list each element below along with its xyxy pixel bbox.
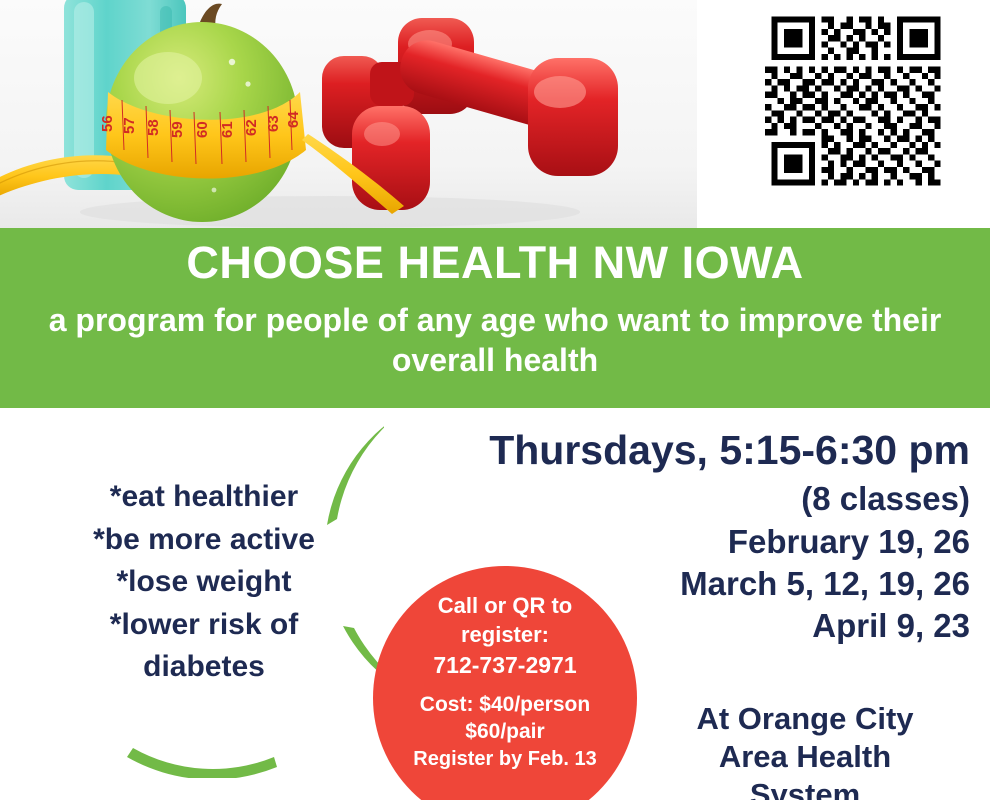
program-title: CHOOSE HEALTH NW IOWA bbox=[186, 238, 803, 288]
schedule-date-row: February 19, 26 bbox=[410, 521, 970, 563]
badge-registration-deadline: Register by Feb. 13 bbox=[373, 746, 637, 772]
schedule-date-row: March 5, 12, 19, 26 bbox=[410, 563, 970, 605]
program-banner: CHOOSE HEALTH NW IOWA a program for peop… bbox=[0, 228, 990, 408]
location-line: Area Health bbox=[640, 738, 970, 776]
svg-text:63: 63 bbox=[265, 115, 282, 132]
benefits-list: *eat healthier *be more active *lose wei… bbox=[54, 476, 354, 689]
svg-text:56: 56 bbox=[99, 115, 116, 132]
location-section: At Orange City Area Health System bbox=[640, 700, 970, 800]
svg-text:64: 64 bbox=[285, 111, 302, 128]
badge-cost-person: Cost: $40/person bbox=[373, 691, 637, 718]
schedule-class-count: (8 classes) bbox=[410, 478, 970, 521]
location-line: System bbox=[640, 776, 970, 800]
schedule-section: Thursdays, 5:15-6:30 pm (8 classes) Febr… bbox=[410, 428, 970, 647]
schedule-heading: Thursdays, 5:15-6:30 pm bbox=[410, 428, 970, 474]
hero-photo: 56 57 58 59 60 61 62 63 64 bbox=[0, 0, 697, 228]
benefit-item: *lose weight bbox=[54, 561, 354, 604]
health-photo-illustration: 56 57 58 59 60 61 62 63 64 bbox=[0, 0, 697, 228]
location-line: At Orange City bbox=[640, 700, 970, 738]
badge-phone-number[interactable]: 712-737-2971 bbox=[373, 651, 637, 681]
svg-text:60: 60 bbox=[194, 121, 211, 138]
benefit-item: *lower risk of diabetes bbox=[54, 604, 354, 689]
benefits-section: *eat healthier *be more active *lose wei… bbox=[24, 418, 384, 778]
badge-cost-pair: $60/pair bbox=[373, 718, 637, 745]
qr-code-svg bbox=[765, 10, 947, 192]
benefit-item: *eat healthier bbox=[54, 476, 354, 519]
svg-text:59: 59 bbox=[169, 121, 186, 138]
qr-code-panel bbox=[697, 0, 990, 228]
svg-text:62: 62 bbox=[243, 119, 260, 136]
schedule-date-row: April 9, 23 bbox=[410, 605, 970, 647]
svg-text:61: 61 bbox=[219, 121, 236, 138]
qr-code-icon[interactable] bbox=[765, 10, 947, 192]
program-subtitle: a program for people of any age who want… bbox=[25, 300, 965, 382]
benefit-item: *be more active bbox=[54, 519, 354, 562]
flyer-page: 56 57 58 59 60 61 62 63 64 bbox=[0, 0, 990, 800]
